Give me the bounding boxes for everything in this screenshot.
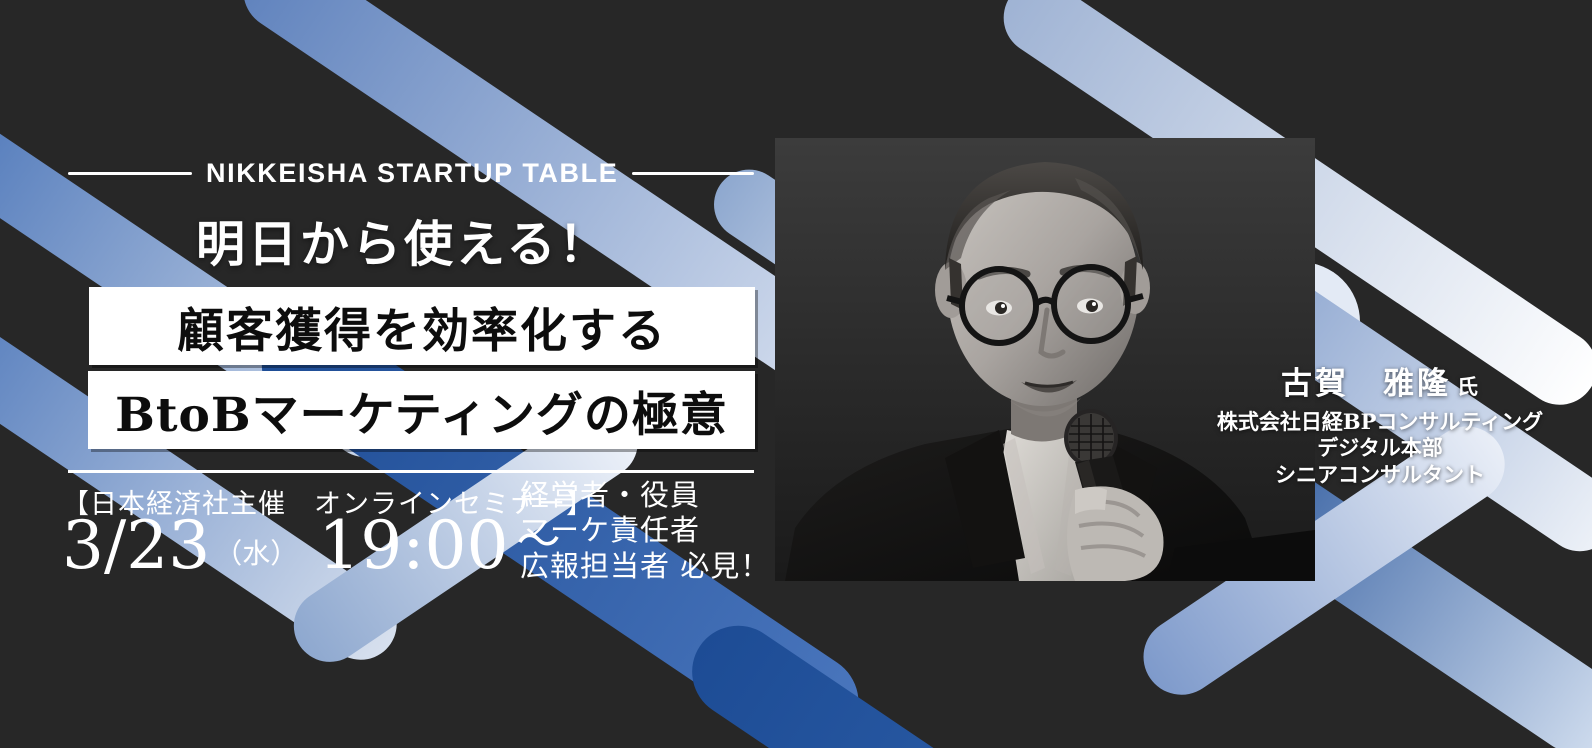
left-content: NIKKEISHA STARTUP TABLE 明日から使える！ 顧客獲得を効率… [0,0,800,748]
title-box-line2: BtoBマーケティングの極意 [88,371,755,449]
footer-divider [68,470,754,473]
audience-block: 経営者・役員 マーケ責任者 広報担当者 必見！ [520,478,770,584]
eyebrow-rule-left [68,172,192,175]
datetime-row: 3/23 （水） 19:00 ～ [62,515,560,578]
speaker-org-line-3: シニアコンサルタント [1180,462,1580,488]
audience-line-3: 広報担当者 必見！ [520,549,770,584]
speaker-name-suffix: 氏 [1457,374,1479,399]
speaker-credit: 古賀 雅隆氏 株式会社日経BPコンサルティング デジタル本部 シニアコンサルタン… [1180,358,1580,488]
title-box-line1: 顧客獲得を効率化する [89,287,755,365]
speaker-name-row: 古賀 雅隆氏 [1180,358,1580,403]
eyebrow-rule-right [632,172,754,175]
audience-line-2: マーケ責任者 [520,513,770,548]
speaker-name: 古賀 雅隆 [1281,366,1451,402]
event-time: 19:00 [304,515,508,578]
speaker-org: 株式会社日経BPコンサルティング デジタル本部 シニアコンサルタント [1180,409,1580,488]
speaker-org-line-1: 株式会社日経BPコンサルティング [1180,409,1580,435]
headline: 明日から使える！ [196,205,611,276]
speaker-org-line-2: デジタル本部 [1180,435,1580,461]
seminar-banner: NIKKEISHA STARTUP TABLE 明日から使える！ 顧客獲得を効率… [0,0,1592,748]
event-day-of-week: （水） [210,540,304,578]
title-line1-text: 顧客獲得を効率化する [177,292,667,361]
audience-line-1: 経営者・役員 [520,478,770,513]
eyebrow-label: NIKKEISHA STARTUP TABLE [206,158,618,189]
event-date: 3/23 [62,515,210,578]
eyebrow-row: NIKKEISHA STARTUP TABLE [68,158,754,189]
title-line2-text: BtoBマーケティングの極意 [115,376,728,445]
